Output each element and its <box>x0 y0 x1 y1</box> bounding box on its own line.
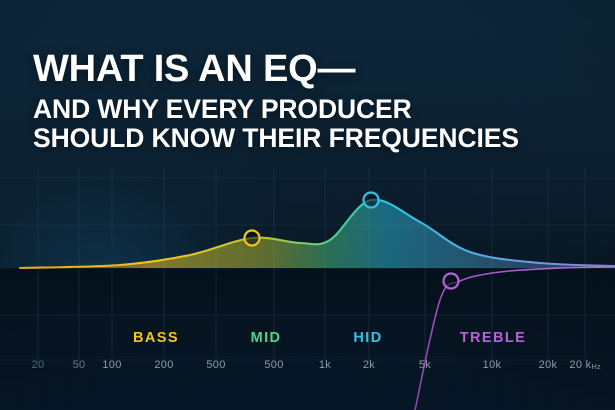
headline-line-1: WHAT IS AN EQ— <box>33 49 519 89</box>
axis-tick-label: 10k <box>483 359 502 371</box>
headline-line-2: AND WHY EVERY PRODUCER <box>33 95 519 124</box>
bass-node[interactable] <box>245 231 260 246</box>
axis-tick-label: 2k <box>363 359 375 371</box>
axis-tick-label: 100 <box>102 359 121 371</box>
axis-tick-label: 50 <box>73 359 86 371</box>
axis-tick-label: 20 kHz <box>569 359 600 371</box>
axis-tick-label: 5k <box>419 359 431 371</box>
axis-tick-label: 500 <box>206 359 225 371</box>
hi-node[interactable] <box>364 193 379 208</box>
band-label-mid: MID <box>251 330 282 346</box>
treble-node[interactable] <box>444 274 459 289</box>
headline-block: WHAT IS AN EQ— AND WHY EVERY PRODUCER SH… <box>33 49 519 153</box>
axis-tick-label: 20k <box>539 359 558 371</box>
axis-tick-label: 1k <box>319 359 331 371</box>
axis-tick-label: 500 <box>264 359 283 371</box>
eq-infographic: WHAT IS AN EQ— AND WHY EVERY PRODUCER SH… <box>0 0 615 410</box>
band-label-bass: BASS <box>133 330 179 346</box>
band-label-hid: HID <box>353 330 382 346</box>
eq-curve-fill <box>20 200 615 268</box>
axis-tick-label: 200 <box>154 359 173 371</box>
band-label-treble: TREBLE <box>460 330 526 346</box>
axis-tick-label: 20 <box>32 359 45 371</box>
headline-line-3: SHOULD KNOW THEIR FREQUENCIES <box>33 124 519 153</box>
